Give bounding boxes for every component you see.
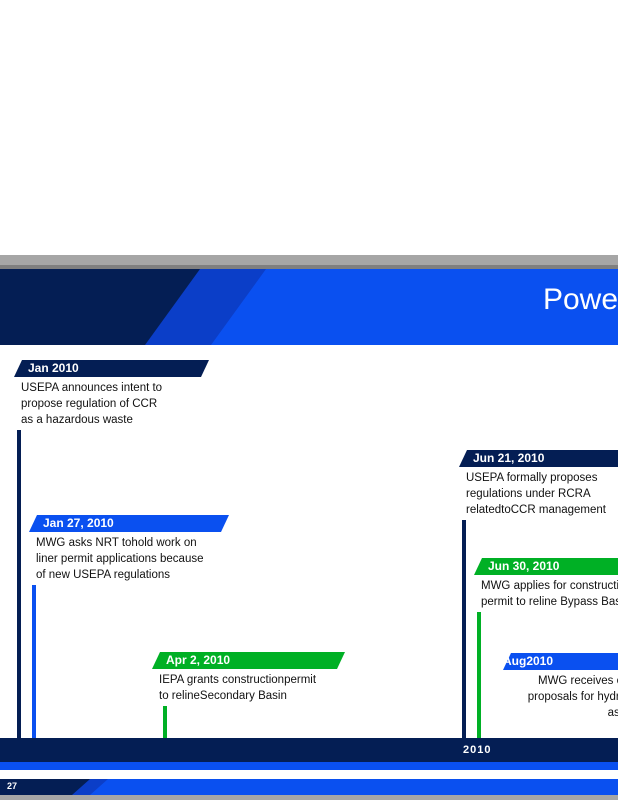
timeline-event-card[interactable]: Apr 2, 2010 IEPA grants constructionperm… (152, 652, 345, 706)
event-description: USEPA formally proposes regulations unde… (459, 467, 618, 520)
event-text-line: permit to reline Bypass Basin (481, 594, 618, 610)
event-description: IEPA grants constructionpermit to reline… (152, 669, 345, 706)
event-text-line: as a hazardous waste (21, 412, 207, 428)
timeline-event-card[interactable]: Jan 2010 USEPA announces intent to propo… (14, 360, 209, 430)
timeline-event-card[interactable]: Jun 30, 2010 MWG applies for constructio… (474, 558, 618, 612)
event-text-line: proposals for hydrogeologic (505, 689, 618, 705)
timeline-axis-bar (0, 738, 618, 762)
event-text-line: MWG applies for construction (481, 578, 618, 594)
event-text-line: MWG asks NRT tohold work on (36, 535, 227, 551)
event-date-header: Jun 30, 2010 (474, 558, 618, 575)
footer-gray-strip (0, 795, 618, 800)
event-description: MWG receives consultant proposals for hy… (503, 670, 618, 723)
event-text-line: IEPA grants constructionpermit (159, 672, 343, 688)
event-text-line: MWG receives consultant (505, 673, 618, 689)
page-title: Powe (543, 283, 618, 317)
timeline-axis-accent (0, 762, 618, 770)
event-text-line: to relineSecondary Basin (159, 688, 343, 704)
slide-header: Powe (0, 269, 618, 345)
slide-page-number: 27 (7, 781, 17, 791)
event-date-header: Aug2010 (503, 653, 618, 670)
event-description: MWG asks NRT tohold work on liner permit… (29, 532, 229, 585)
event-date-label: Jun 30, 2010 (474, 559, 559, 573)
event-text-line: propose regulation of CCR (21, 396, 207, 412)
event-date-label: Apr 2, 2010 (152, 653, 230, 667)
event-date-label: Aug2010 (503, 654, 557, 668)
event-text-line: of new USEPA regulations (36, 567, 227, 583)
event-date-header: Jan 27, 2010 (29, 515, 229, 532)
event-date-header: Jan 2010 (14, 360, 209, 377)
timeline-event-card[interactable]: Jan 27, 2010 MWG asks NRT tohold work on… (29, 515, 229, 585)
slide-canvas: Powe Jan 2010 USEPA announces intent to … (0, 0, 618, 800)
timeline-axis-year-label: 2010 (463, 744, 491, 756)
slide-footer: 27 (0, 779, 618, 795)
event-text-line: assessment (505, 705, 618, 721)
timeline-event-card[interactable]: Aug2010 MWG receives consultant proposal… (503, 653, 618, 723)
top-gray-strip (0, 255, 618, 265)
event-date-header: Apr 2, 2010 (152, 652, 345, 669)
event-text-line: USEPA announces intent to (21, 380, 207, 396)
event-text-line: liner permit applications because (36, 551, 227, 567)
event-text-line: relatedtoCCR management (466, 502, 618, 518)
event-description: MWG applies for construction permit to r… (474, 575, 618, 612)
event-text-line: regulations under RCRA (466, 486, 618, 502)
event-description: USEPA announces intent to propose regula… (14, 377, 209, 430)
event-date-label: Jun 21, 2010 (459, 451, 544, 465)
timeline-event-card[interactable]: Jun 21, 2010 USEPA formally proposes reg… (459, 450, 618, 520)
event-text-line: USEPA formally proposes (466, 470, 618, 486)
event-date-header: Jun 21, 2010 (459, 450, 618, 467)
event-date-label: Jan 2010 (14, 361, 79, 375)
connector-line-jan-2010 (17, 377, 21, 738)
event-date-label: Jan 27, 2010 (29, 516, 114, 530)
